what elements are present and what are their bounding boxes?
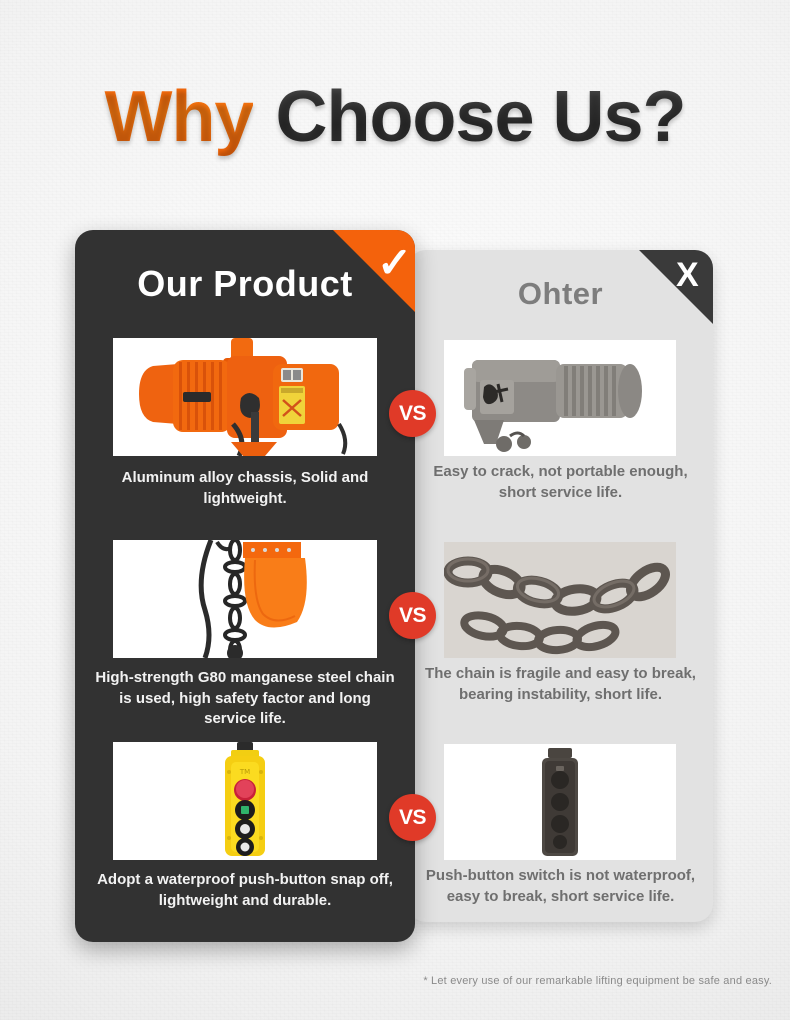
svg-text:TM: TM [239, 768, 250, 776]
our-caption-2: High-strength G80 manganese steel chain … [93, 668, 397, 730]
other-photo-2 [444, 542, 676, 658]
cross-icon: X [676, 258, 699, 292]
rusty-chain-photo [444, 542, 676, 658]
other-photo-1 [444, 340, 676, 456]
orange-electric-chain-hoist-photo [113, 338, 377, 456]
page-title-rest: Choose Us? [275, 77, 685, 157]
vs-badge-3: VS [389, 794, 436, 841]
vs-badge-2: VS [389, 592, 436, 639]
yellow-pendant-push-button-photo: TM [113, 742, 377, 860]
our-caption-3: Adopt a waterproof push-button snap off,… [93, 870, 397, 911]
footer-note: * Let every use of our remarkable liftin… [423, 975, 772, 987]
dark-corroded-push-button-photo [444, 744, 676, 860]
our-photo-3: TM [113, 742, 377, 860]
our-caption-1: Aluminum alloy chassis, Solid and lightw… [93, 468, 397, 509]
page-title-highlight: Why [104, 77, 253, 157]
vs-badge-1: VS [389, 390, 436, 437]
other-caption-2: The chain is fragile and easy to break, … [420, 664, 701, 705]
check-icon: ✓ [377, 242, 412, 284]
other-caption-3: Push-button switch is not waterproof, ea… [420, 866, 701, 907]
other-caption-1: Easy to crack, not portable enough, shor… [420, 462, 701, 503]
comparison-card-other: Ohter [408, 250, 713, 922]
black-chain-orange-bag-photo [113, 540, 377, 658]
page-title: WhyChoose Us? [0, 74, 790, 160]
our-photo-2 [113, 540, 377, 658]
other-photo-3 [444, 744, 676, 860]
comparison-card-our-product: Our Product [75, 230, 415, 942]
our-photo-1 [113, 338, 377, 456]
worn-gray-hoist-motor-photo [444, 340, 676, 456]
